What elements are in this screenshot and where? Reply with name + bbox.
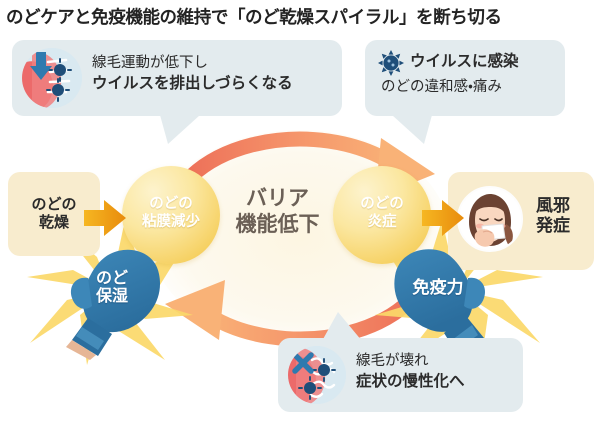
glove-label-moisture-line1: のど bbox=[72, 270, 152, 288]
cilia-broken-x-icon bbox=[288, 346, 346, 404]
glove-label-immunity: 免疫力 bbox=[392, 278, 484, 298]
stage-label-inflammation-line2: 炎症 bbox=[333, 214, 431, 232]
glove-label-moisture-line2: 保湿 bbox=[72, 288, 152, 306]
stage-label-mucosa-line1: のどの bbox=[122, 196, 220, 214]
callout-virus-infection-text: ウイルスに感染 bbox=[410, 52, 519, 73]
callout-cilia-decline-line1: 線毛運動が低下し bbox=[92, 54, 293, 74]
callout-virus-infection-line2: のどの違和感・痛み bbox=[381, 78, 502, 98]
center-label-barrier: バリア 機能低下 bbox=[220, 186, 335, 237]
callout-cilia-decline-text: 線毛運動が低下し ウイルスを排出しづらくなる bbox=[92, 54, 293, 94]
callout-cilia-broken-line2: 症状の慢性化へ bbox=[356, 372, 465, 393]
stage-label-inflammation-line1: のどの bbox=[333, 196, 431, 214]
callout-cilia-decline-tail bbox=[160, 115, 206, 145]
stage-label-cold-onset-line1: 風邪 bbox=[520, 196, 586, 216]
callout-virus-infection-tail bbox=[388, 115, 434, 145]
cilia-down-arrow-icon bbox=[22, 48, 82, 108]
stage-label-cold-onset: 風邪 発症 bbox=[520, 196, 586, 237]
page-title: のどケアと免疫機能の維持で「のど乾燥スパイラル」を断ち切る bbox=[6, 4, 596, 29]
sneezing-person-icon bbox=[457, 186, 523, 252]
callout-cilia-decline-line2: ウイルスを排出しづらくなる bbox=[92, 74, 293, 95]
arrow-right-icon-dryness bbox=[84, 198, 128, 238]
stage-label-mucosa: のどの 粘膜減少 bbox=[122, 196, 220, 231]
infographic-canvas: のどケアと免疫機能の維持で「のど乾燥スパイラル」を断ち切る bbox=[0, 0, 600, 422]
glove-label-immunity-line1: 免疫力 bbox=[392, 278, 484, 298]
stage-label-mucosa-line2: 粘膜減少 bbox=[122, 214, 220, 232]
arrow-right-icon-cold bbox=[422, 198, 466, 238]
stage-label-inflammation: のどの 炎症 bbox=[333, 196, 431, 231]
callout-virus-infection-text2: のどの違和感・痛み bbox=[381, 78, 502, 98]
stage-label-cold-onset-line2: 発症 bbox=[520, 216, 586, 236]
virus-icon bbox=[378, 50, 404, 76]
center-label-line2: 機能低下 bbox=[220, 212, 335, 238]
callout-virus-infection-line1: ウイルスに感染 bbox=[410, 52, 519, 73]
callout-cilia-broken-text: 線毛が壊れ 症状の慢性化へ bbox=[356, 352, 465, 392]
glove-label-moisture: のど 保湿 bbox=[72, 270, 152, 307]
callout-cilia-broken-tail bbox=[318, 312, 364, 342]
center-label-line1: バリア bbox=[220, 186, 335, 212]
callout-cilia-broken-line1: 線毛が壊れ bbox=[356, 352, 465, 372]
